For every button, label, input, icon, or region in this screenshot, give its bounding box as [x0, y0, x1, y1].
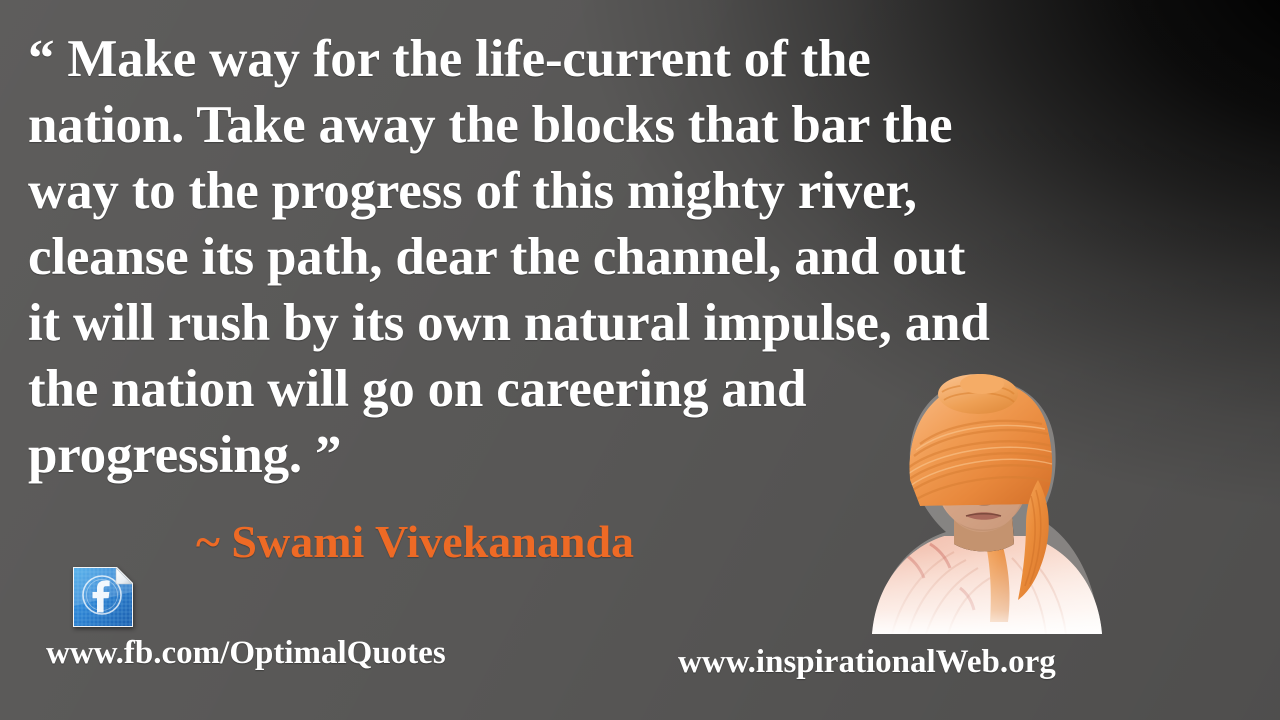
facebook-blueprint-document-icon[interactable] [72, 566, 134, 628]
quote-attribution: ~ Swami Vivekananda [196, 516, 634, 568]
quote-image-canvas: “ Make way for the life-current of the n… [0, 0, 1280, 720]
footer-facebook-block: www.fb.com/OptimalQuotes [46, 566, 446, 672]
quote-line-1: “ Make way for the life-current of the [28, 26, 1188, 92]
quote-line-5: it will rush by its own natural impulse,… [28, 290, 1188, 356]
facebook-url-text[interactable]: www.fb.com/OptimalQuotes [46, 634, 446, 672]
website-url-text[interactable]: www.inspirationalWeb.org [678, 643, 1056, 681]
footer-website-block: www.inspirationalWeb.org [678, 643, 1056, 681]
quote-line-3: way to the progress of this mighty river… [28, 158, 1188, 224]
quote-line-7: progressing. ” [28, 422, 1188, 488]
quote-line-2: nation. Take away the blocks that bar th… [28, 92, 1188, 158]
quote-text: “ Make way for the life-current of the n… [28, 26, 1188, 488]
quote-line-6: the nation will go on careering and [28, 356, 1188, 422]
quote-line-4: cleanse its path, dear the channel, and … [28, 224, 1188, 290]
